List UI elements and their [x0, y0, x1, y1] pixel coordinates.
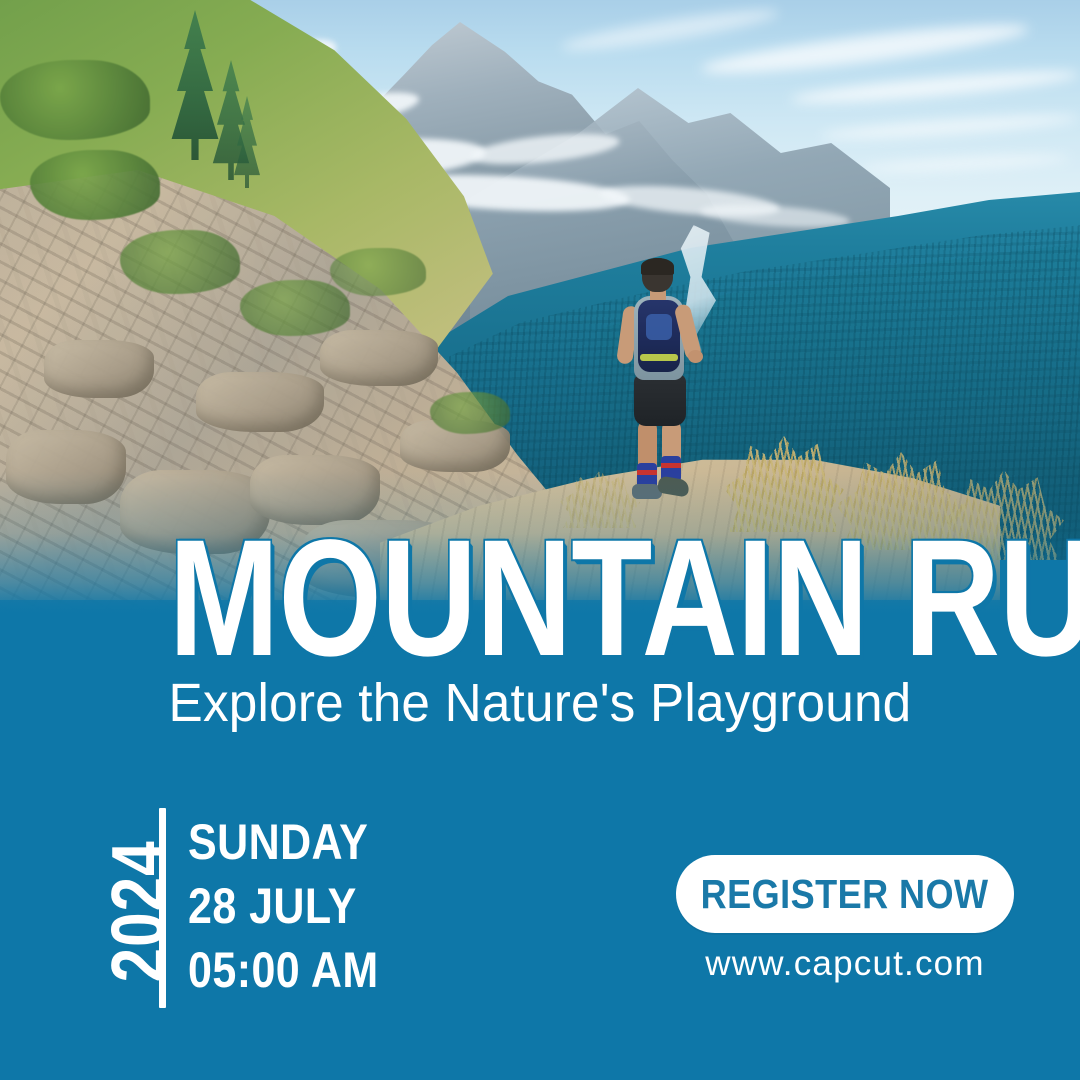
- subtitle-text: Explore the Nature's Playground: [169, 672, 912, 734]
- runner-hand-right: [688, 350, 703, 363]
- shrub: [0, 60, 150, 140]
- event-details: 2024 SUNDAY 28 JULY 05:00 AM: [62, 800, 482, 1015]
- event-date-lines: SUNDAY 28 JULY 05:00 AM: [188, 810, 410, 1002]
- page-subtitle: Explore the Nature's Playground: [0, 672, 1080, 734]
- vest-strap: [640, 354, 678, 361]
- headline-text: MOUNTAIN RUNNING: [169, 516, 1080, 682]
- shrub: [430, 392, 510, 434]
- runner-shorts: [634, 374, 686, 426]
- boulder: [320, 330, 438, 386]
- trail-runner-icon: [612, 258, 708, 506]
- shrub: [30, 150, 160, 220]
- shrub: [120, 230, 240, 294]
- boulder: [44, 340, 154, 398]
- website-url: www.capcut.com: [705, 944, 984, 983]
- vest-pocket: [646, 314, 672, 340]
- vertical-divider: [159, 808, 166, 1008]
- register-now-button[interactable]: REGISTER NOW: [676, 855, 1014, 933]
- shrub: [330, 248, 426, 296]
- boulder: [6, 430, 126, 504]
- boulder: [196, 372, 324, 432]
- register-now-label: REGISTER NOW: [701, 871, 989, 918]
- page-title: MOUNTAIN RUNNING: [0, 516, 1080, 682]
- event-day: SUNDAY: [188, 810, 379, 874]
- event-date: 28 JULY: [188, 874, 379, 938]
- event-year: 2024: [96, 830, 183, 994]
- runner-hair: [641, 258, 674, 275]
- event-time: 05:00 AM: [188, 938, 379, 1002]
- shrub: [240, 280, 350, 336]
- website-link[interactable]: www.capcut.com: [676, 944, 1014, 984]
- poster-canvas: MOUNTAIN RUNNING Explore the Nature's Pl…: [0, 0, 1080, 1080]
